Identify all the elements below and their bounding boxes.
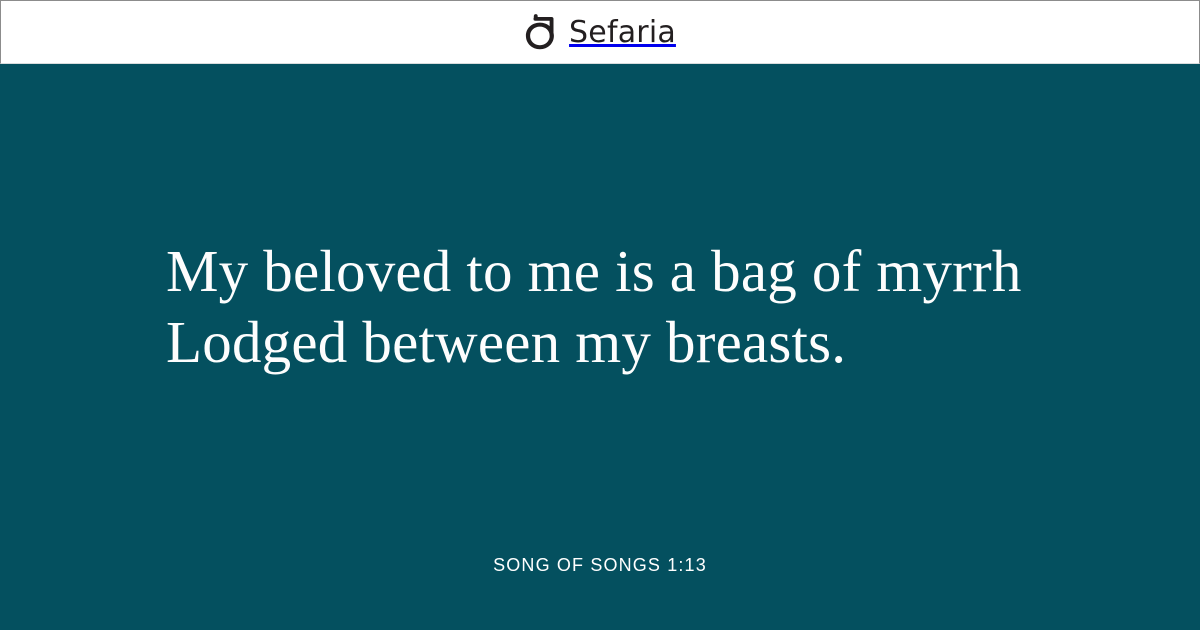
quote-line-2: Lodged between my breasts. — [166, 307, 1066, 378]
sefaria-wordmark: Sefaria — [569, 18, 676, 48]
sefaria-samekh-logo-icon — [524, 14, 558, 50]
sefaria-logo-link[interactable]: Sefaria — [524, 12, 676, 52]
quote-line-1: My beloved to me is a bag of myrrh — [166, 236, 1066, 307]
site-header: Sefaria — [0, 0, 1200, 64]
quote-text-block: My beloved to me is a bag of myrrh Lodge… — [166, 236, 1066, 378]
source-citation: SONG OF SONGS 1:13 — [0, 553, 1200, 577]
quote-poster: Sefaria My beloved to me is a bag of myr… — [0, 0, 1200, 630]
